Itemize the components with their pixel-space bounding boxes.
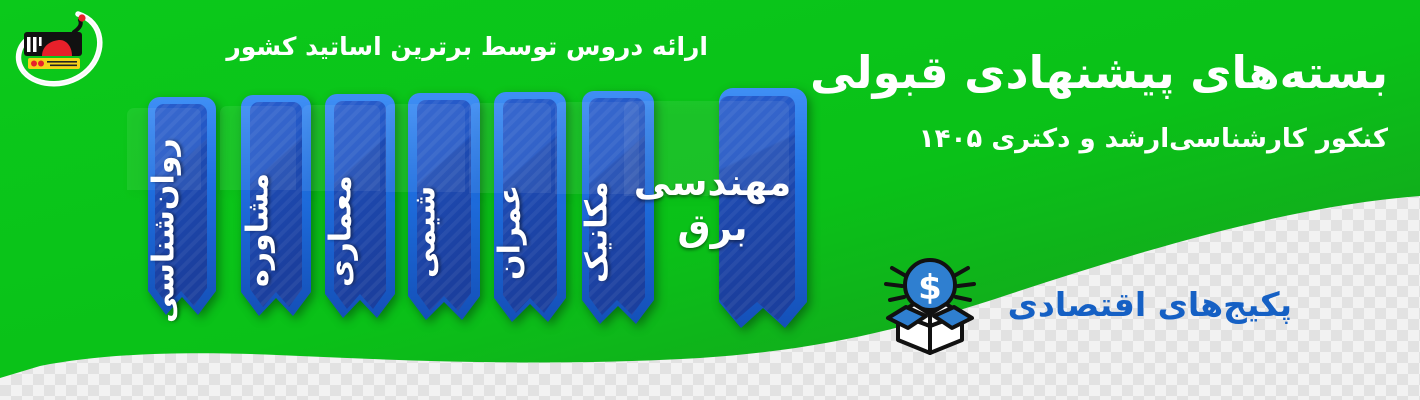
card-shape [110,95,218,340]
promo-banner: ارائه دروس توسط برترین اساتید کشور بسته‌… [0,0,1420,400]
economy-packages-label: پکیج‌های اقتصادی [1008,285,1292,324]
page-title: بسته‌های پیشنهادی قبولی [868,46,1388,101]
page-subtitle: کنکور کارشناسی‌ارشد و دکتری ۱۴۰۵ [868,123,1388,157]
card-shape [610,86,815,354]
subject-card-electrical-engineering[interactable]: مهندسی برق [610,86,815,354]
economy-packages-row[interactable]: پکیج‌های اقتصادی $ [870,252,1292,357]
headline-block: بسته‌های پیشنهادی قبولی کنکور کارشناسی‌ا… [868,46,1388,157]
subject-card-fan: روان‌شناسی مشاوره [0,0,840,360]
svg-text:$: $ [918,268,942,308]
subject-card-psychology[interactable]: روان‌شناسی [110,95,218,340]
money-box-icon: $ [870,252,990,357]
